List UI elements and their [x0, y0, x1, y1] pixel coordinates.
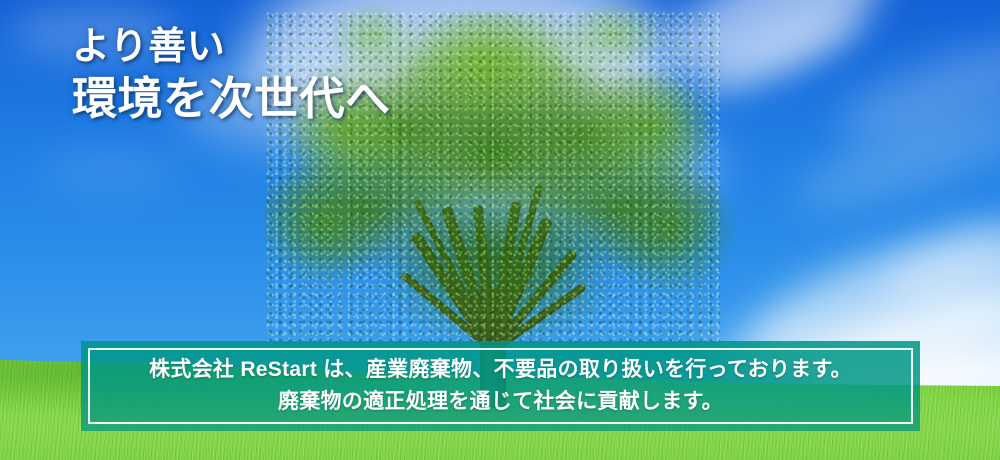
cloud-shape: [40, 150, 180, 190]
headline-line-2: 環境を次世代へ: [72, 72, 391, 126]
hero-headline: より善い 環境を次世代へ: [72, 24, 391, 126]
banner-line-1: 株式会社 ReStart は、産業廃棄物、不要品の取り扱いを行っております。: [149, 357, 852, 383]
headline-line-1: より善い: [72, 24, 391, 70]
company-message-banner: 株式会社 ReStart は、産業廃棄物、不要品の取り扱いを行っております。 廃…: [81, 341, 920, 431]
banner-line-2: 廃棄物の適正処理を通じて社会に貢献します。: [278, 389, 723, 415]
banner-inner-frame: 株式会社 ReStart は、産業廃棄物、不要品の取り扱いを行っております。 廃…: [88, 348, 913, 424]
hero-banner-image: より善い 環境を次世代へ 株式会社 ReStart は、産業廃棄物、不要品の取り…: [0, 0, 1000, 460]
